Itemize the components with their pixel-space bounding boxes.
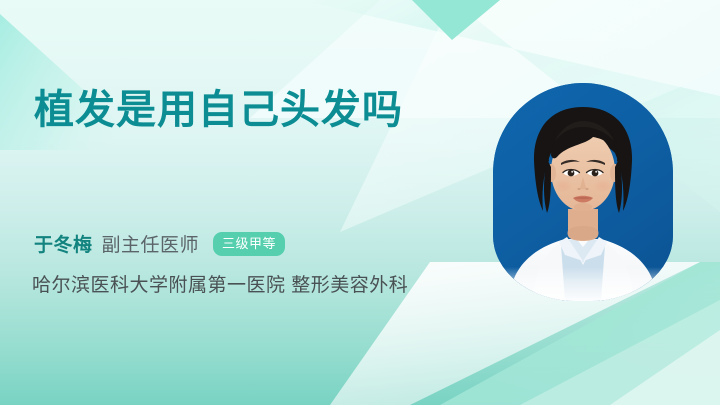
page-title: 植发是用自己头发吗 (34, 88, 403, 132)
decor-band-bottom-right-secondary (520, 300, 720, 405)
decor-triangle-top (412, 0, 500, 40)
portrait-bottom-fade (493, 267, 673, 301)
doctor-name: 于冬梅 (34, 230, 93, 257)
hospital-grade-badge: 三级甲等 (213, 232, 285, 256)
decor-band-bottom-pale (610, 330, 720, 405)
doctor-professional-title: 副主任医师 (102, 230, 200, 257)
hospital-department-line: 哈尔滨医科大学附属第一医院 整形美容外科 (32, 270, 408, 297)
portrait-circle (493, 83, 673, 301)
doctor-portrait (493, 83, 673, 301)
doctor-info-line: 于冬梅 副主任医师 三级甲等 (34, 230, 285, 257)
doctor-video-cover-card: 植发是用自己头发吗 于冬梅 副主任医师 三级甲等 哈尔滨医科大学附属第一医院 整… (0, 0, 720, 405)
portrait-eye-left (568, 170, 575, 177)
portrait-eye-right (592, 170, 599, 177)
